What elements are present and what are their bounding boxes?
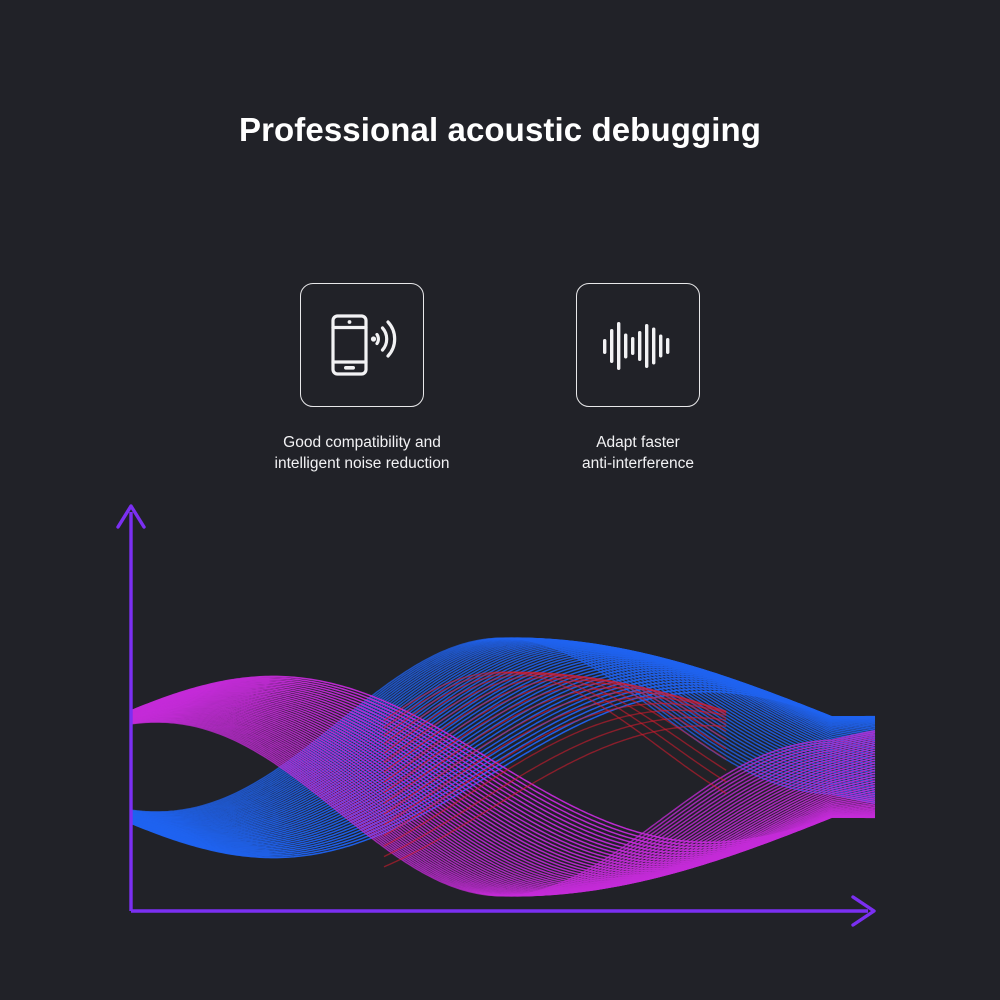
page-title: Professional acoustic debugging	[0, 108, 1000, 152]
feature-compatibility: Good compatibility and intelligent noise…	[257, 283, 467, 474]
audio-waveform-icon	[596, 303, 680, 387]
acoustic-debugging-page: Professional acoustic debugging	[0, 0, 1000, 1000]
feature-row: Good compatibility and intelligent noise…	[0, 283, 1000, 474]
feature-anti-interference: Adapt faster anti-interference	[533, 283, 743, 474]
phone-wireless-signal-icon	[320, 303, 404, 387]
wave-curve-layer	[131, 638, 875, 896]
feature-compatibility-caption: Good compatibility and intelligent noise…	[275, 432, 450, 474]
phone-camera-dot-icon	[348, 320, 352, 324]
signal-origin-dot-icon	[371, 336, 376, 341]
feature-anti-interference-caption: Adapt faster anti-interference	[582, 432, 694, 474]
phone-home-button-icon	[344, 366, 355, 370]
phone-wireless-signal-icon-box	[300, 283, 424, 407]
audio-waveform-icon-box	[576, 283, 700, 407]
